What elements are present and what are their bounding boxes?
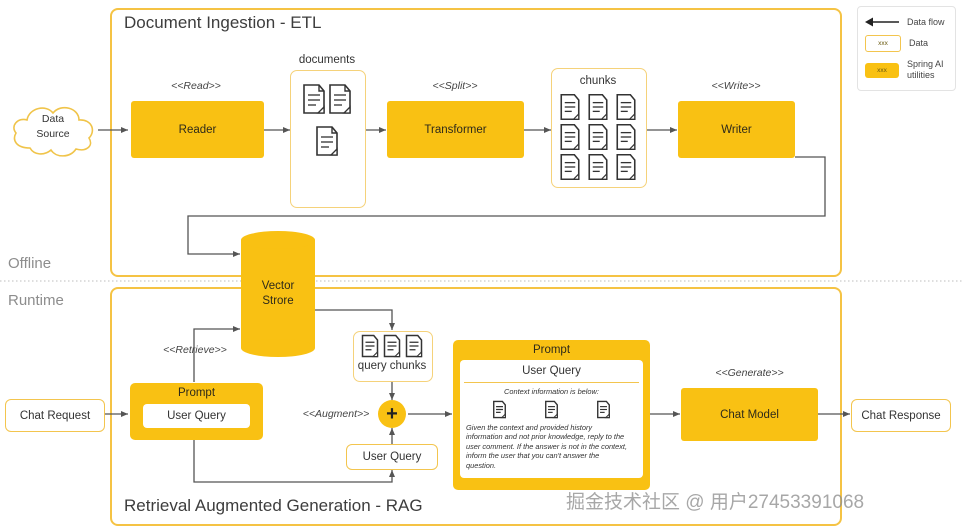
document-icon — [614, 123, 638, 151]
legend-label-data: Data — [909, 38, 928, 49]
writer-node[interactable]: Writer — [678, 101, 795, 158]
prompt-left-user-query-label: User Query — [167, 410, 226, 422]
document-icon — [596, 400, 611, 419]
vector-store-label-line1: Vector — [241, 279, 315, 294]
legend-swatch-utilities-text: xxx — [877, 67, 887, 74]
transformer-node[interactable]: Transformer — [387, 101, 524, 158]
vector-store-label: Vector Strore — [241, 279, 315, 309]
document-icon — [492, 400, 507, 419]
document-icon — [360, 334, 380, 358]
final-prompt-user-query-label: User Query — [522, 365, 581, 377]
data-source-label-line2: Source — [6, 127, 100, 142]
legend-row-utilities: xxx Spring AI utilities — [865, 59, 948, 81]
legend-swatch-data: xxx — [865, 35, 901, 52]
user-query-node[interactable]: User Query — [346, 444, 438, 470]
context-doc-icons — [460, 397, 643, 422]
document-icon — [586, 123, 610, 151]
final-prompt-node[interactable]: Prompt User Query Context information is… — [453, 340, 650, 490]
final-prompt-inner: User Query Context information is below: — [460, 360, 643, 478]
chunk-icons — [553, 92, 643, 182]
data-source-label-line1: Data — [6, 112, 100, 127]
prompt-node-left-title: Prompt — [130, 383, 263, 399]
cylinder-cap-bottom — [241, 339, 315, 357]
document-icon — [614, 93, 638, 121]
chat-request-node[interactable]: Chat Request — [5, 399, 105, 432]
prompt-left-user-query[interactable]: User Query — [143, 404, 250, 428]
document-icon — [327, 83, 353, 115]
final-prompt-title: Prompt — [453, 340, 650, 356]
augment-stereotype: <<Augment>> — [293, 408, 379, 420]
query-chunk-icons — [355, 334, 429, 358]
legend-swatch-data-text: xxx — [878, 40, 888, 47]
query-chunks-label: query chunks — [353, 360, 431, 372]
phase-label-runtime: Runtime — [8, 292, 64, 309]
context-body-line: Given the context and provided history — [466, 423, 637, 433]
context-body-line: inform the user that you can't answer th… — [466, 451, 637, 461]
vector-store-label-line2: Strore — [241, 294, 315, 309]
legend-swatch-utilities: xxx — [865, 63, 899, 78]
context-body-line: user comment. If the answer is not in th… — [466, 442, 637, 452]
arrow-icon — [865, 16, 899, 28]
legend-label-data-flow: Data flow — [907, 17, 945, 28]
legend-row-data: xxx Data — [865, 35, 948, 52]
read-stereotype: <<Read>> — [128, 80, 264, 92]
document-icon — [614, 153, 638, 181]
watermark-text: 掘金技术社区 @ 用户27453391068 — [566, 487, 864, 514]
prompt-node-left[interactable]: Prompt User Query — [130, 383, 263, 440]
document-icon — [586, 93, 610, 121]
chunks-bin-label: chunks — [551, 75, 645, 87]
documents-icons — [290, 78, 364, 162]
phase-label-offline: Offline — [8, 255, 51, 272]
final-prompt-user-query[interactable]: User Query — [464, 360, 639, 383]
chat-model-node[interactable]: Chat Model — [681, 388, 818, 441]
diagram-canvas: Document Ingestion - ETL Retrieval Augme… — [0, 0, 962, 530]
document-icon — [558, 93, 582, 121]
legend-panel: Data flow xxx Data xxx Spring AI utiliti… — [857, 6, 956, 91]
generate-stereotype: <<Generate>> — [681, 367, 818, 379]
context-intro: Context information is below: — [460, 383, 643, 397]
split-stereotype: <<Split>> — [386, 80, 524, 92]
plus-icon: + — [386, 404, 398, 424]
legend-row-data-flow: Data flow — [865, 16, 948, 28]
context-body: Given the context and provided history i… — [460, 422, 643, 471]
document-icon — [544, 400, 559, 419]
document-icon — [301, 83, 327, 115]
augment-plus-node[interactable]: + — [378, 400, 406, 428]
rag-group-title: Retrieval Augmented Generation - RAG — [124, 496, 423, 516]
context-body-line: information and not prior knowledge, rep… — [466, 432, 637, 442]
context-body-line: question. — [466, 461, 637, 471]
document-icon — [586, 153, 610, 181]
write-stereotype: <<Write>> — [677, 80, 795, 92]
vector-store-node[interactable]: Vector Strore — [241, 231, 315, 357]
document-icon — [558, 123, 582, 151]
data-source-cloud: Data Source — [6, 98, 100, 162]
retrieve-stereotype: <<Retrieve>> — [155, 344, 235, 356]
cylinder-cap-top — [241, 231, 315, 249]
document-icon — [404, 334, 424, 358]
document-icon — [558, 153, 582, 181]
reader-node[interactable]: Reader — [131, 101, 264, 158]
document-icon — [382, 334, 402, 358]
document-icon — [314, 125, 340, 157]
documents-bin-label: documents — [290, 54, 364, 66]
etl-group-title: Document Ingestion - ETL — [124, 13, 321, 33]
legend-label-utilities: Spring AI utilities — [907, 59, 948, 81]
chat-response-node[interactable]: Chat Response — [851, 399, 951, 432]
